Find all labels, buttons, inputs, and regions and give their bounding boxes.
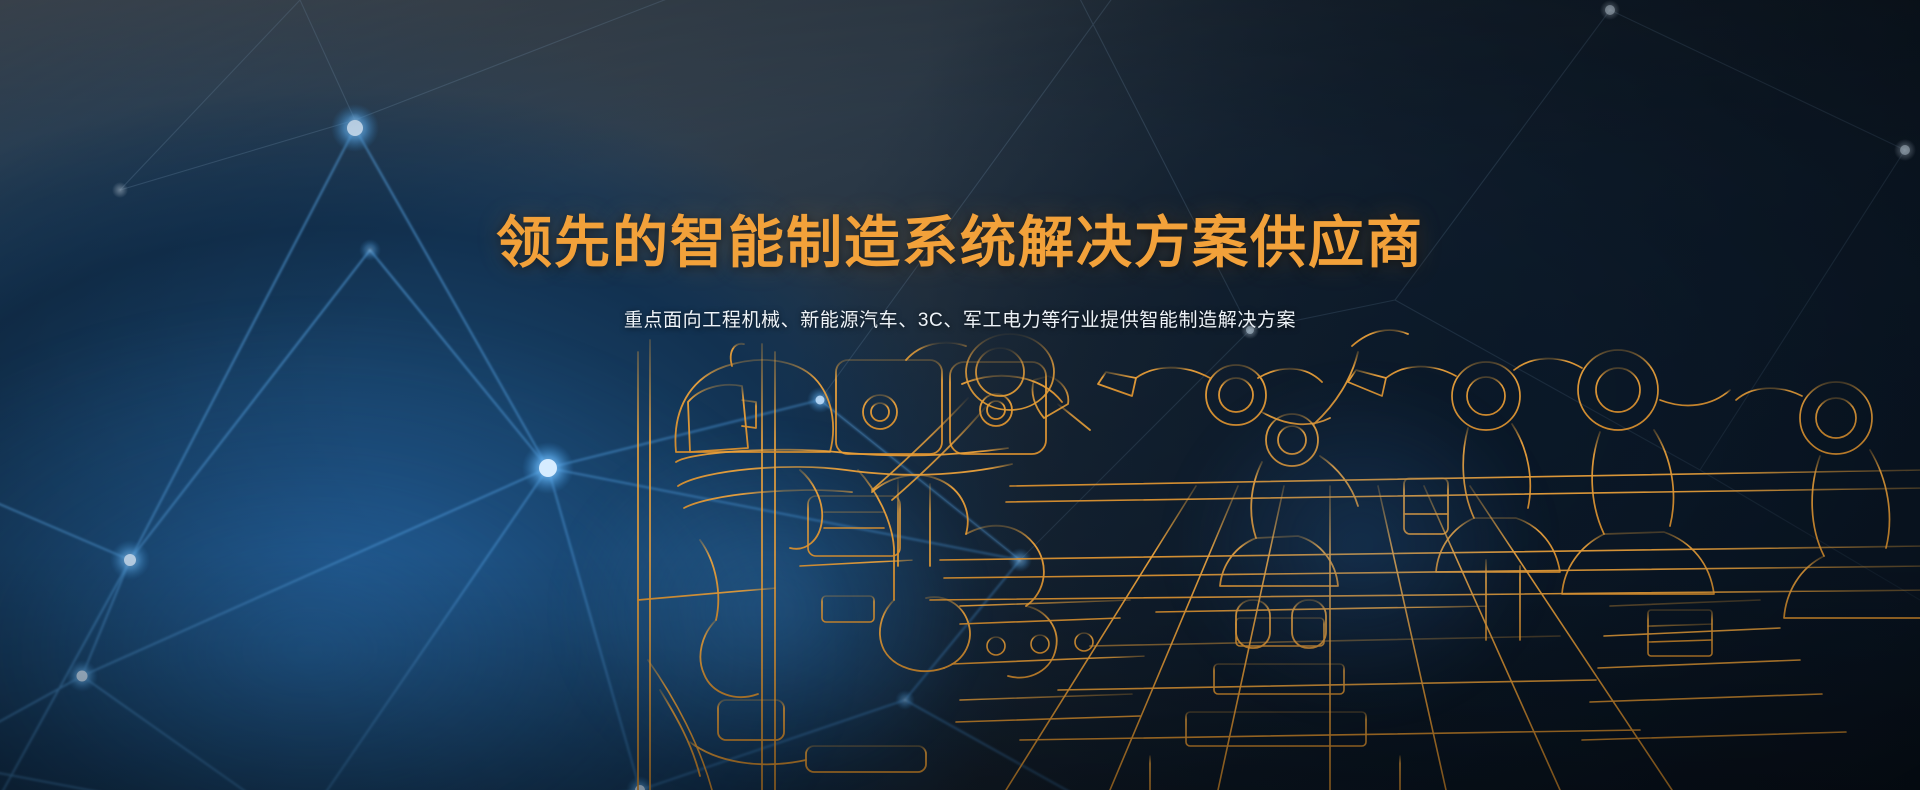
banner-subheadline: 重点面向工程机械、新能源汽车、3C、军工电力等行业提供智能制造解决方案	[0, 309, 1920, 334]
background-vignette	[0, 0, 1920, 790]
banner-headline: 领先的智能制造系统解决方案供应商	[0, 216, 1920, 272]
hero-banner: 领先的智能制造系统解决方案供应商 重点面向工程机械、新能源汽车、3C、军工电力等…	[0, 0, 1920, 790]
